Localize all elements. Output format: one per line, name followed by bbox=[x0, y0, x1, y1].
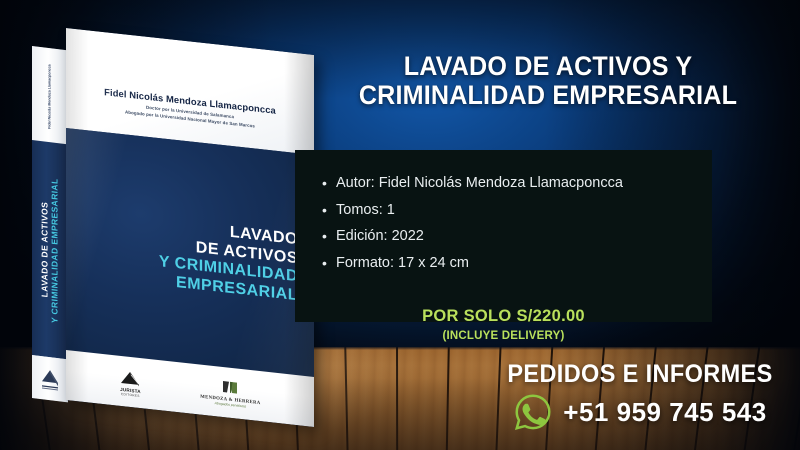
poster-canvas: Fidel Nicolás Mendoza Llamacponcca LAVAD… bbox=[0, 0, 800, 450]
jurista-building-icon bbox=[119, 368, 141, 387]
list-item-label: Tomos: 1 bbox=[336, 203, 722, 218]
list-item: •Autor: Fidel Nicolás Mendoza Llamacponc… bbox=[322, 176, 722, 191]
contact-row[interactable]: +51 959 745 543 bbox=[480, 392, 800, 432]
spine-top-band: Fidel Nicolás Mendoza Llamacponcca bbox=[32, 46, 68, 144]
list-item: •Formato: 17 x 24 cm bbox=[322, 256, 722, 271]
bullet-dot-icon: • bbox=[322, 203, 336, 218]
list-item-label: Formato: 17 x 24 cm bbox=[336, 256, 722, 271]
spine-bottom-band bbox=[32, 355, 68, 402]
cover-title-block: LAVADO DE ACTIVOS Y CRIMINALIDAD EMPRESA… bbox=[159, 216, 298, 306]
book-spine: Fidel Nicolás Mendoza Llamacponcca LAVAD… bbox=[32, 46, 68, 402]
orders-heading: PEDIDOS E INFORMES bbox=[490, 360, 791, 389]
poster-headline: LAVADO DE ACTIVOS Y CRIMINALIDAD EMPRESA… bbox=[317, 52, 778, 110]
mendoza-herrera-leaf-icon bbox=[221, 380, 239, 397]
spine-title-cyan: Y CRIMINALIDAD EMPRESARIAL bbox=[50, 177, 60, 323]
delivery-note: (INCLUYE DELIVERY) bbox=[295, 330, 712, 342]
spine-body-band: LAVADO DE ACTIVOS Y CRIMINALIDAD EMPRESA… bbox=[32, 140, 68, 359]
spine-title-block: LAVADO DE ACTIVOS Y CRIMINALIDAD EMPRESA… bbox=[40, 176, 59, 323]
whatsapp-icon[interactable] bbox=[513, 392, 553, 432]
jurista-editores-logo-spine bbox=[39, 365, 61, 394]
list-item: •Tomos: 1 bbox=[322, 203, 722, 218]
price-label: POR SOLO S/220.00 bbox=[295, 307, 712, 326]
list-item: •Edición: 2022 bbox=[322, 229, 722, 244]
book-mockup: Fidel Nicolás Mendoza Llamacponcca LAVAD… bbox=[28, 28, 318, 398]
list-item-label: Edición: 2022 bbox=[336, 229, 722, 244]
jurista-logo-subtitle: EDITORES bbox=[121, 391, 140, 397]
list-item-label: Autor: Fidel Nicolás Mendoza Llamacponcc… bbox=[336, 176, 722, 191]
phone-number[interactable]: +51 959 745 543 bbox=[563, 397, 766, 428]
book-details-list: •Autor: Fidel Nicolás Mendoza Llamacponc… bbox=[322, 176, 722, 283]
bullet-dot-icon: • bbox=[322, 256, 336, 271]
mendoza-herrera-logo: MENDOZA & HERRERA Abogados penalistas bbox=[200, 378, 260, 411]
spine-author-text: Fidel Nicolás Mendoza Llamacponcca bbox=[48, 64, 53, 129]
bullet-dot-icon: • bbox=[322, 176, 336, 191]
jurista-editores-logo: JURISTA EDITORES bbox=[119, 368, 141, 397]
bullet-dot-icon: • bbox=[322, 229, 336, 244]
book-front-cover: Fidel Nicolás Mendoza Llamacponcca Docto… bbox=[66, 28, 314, 427]
